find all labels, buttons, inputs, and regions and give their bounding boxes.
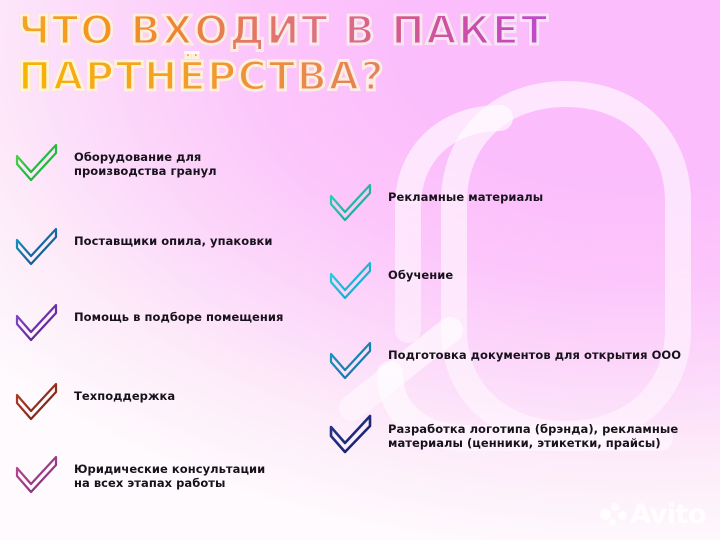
check-icon — [14, 454, 60, 494]
check-icon — [14, 302, 60, 342]
poster-title: Что входит в пакет Партнёрства? — [18, 8, 708, 100]
list-item-label: Юридические консультации на всех этапах … — [74, 454, 265, 490]
poster-canvas: Что входит в пакет Партнёрства? Оборудов… — [0, 0, 720, 540]
list-item: Юридические консультации на всех этапах … — [14, 454, 265, 494]
list-item: Рекламные материалы — [328, 182, 543, 222]
avito-dots-icon — [600, 503, 626, 527]
list-item-label: Обучение — [388, 260, 453, 282]
list-item-label: Оборудование для производства гранул — [74, 142, 217, 178]
avito-wordmark: Avito — [630, 501, 706, 528]
check-icon — [328, 414, 374, 454]
title-line-2: Партнёрства? — [18, 54, 708, 100]
list-item-label: Подготовка документов для открытия ООО — [388, 340, 681, 362]
avito-watermark: Avito — [600, 501, 706, 528]
list-item: Разработка логотипа (брэнда), рекламные … — [328, 414, 712, 454]
check-icon — [328, 260, 374, 300]
list-item: Техподдержка — [14, 381, 175, 421]
title-line-1: Что входит в пакет — [18, 8, 708, 54]
list-item-label: Помощь в подборе помещения — [74, 302, 283, 324]
list-item-label: Поставщики опила, упаковки — [74, 226, 273, 248]
list-item-label: Рекламные материалы — [388, 182, 543, 204]
check-icon — [14, 226, 60, 266]
list-item: Оборудование для производства гранул — [14, 142, 217, 182]
list-item: Поставщики опила, упаковки — [14, 226, 273, 266]
list-item: Обучение — [328, 260, 453, 300]
check-icon — [328, 340, 374, 380]
check-icon — [14, 381, 60, 421]
list-item-label: Разработка логотипа (брэнда), рекламные … — [388, 414, 706, 450]
check-icon — [14, 142, 60, 182]
check-icon — [328, 182, 374, 222]
list-item-label: Техподдержка — [74, 381, 175, 403]
list-item: Помощь в подборе помещения — [14, 302, 283, 342]
list-item: Подготовка документов для открытия ООО — [328, 340, 681, 380]
